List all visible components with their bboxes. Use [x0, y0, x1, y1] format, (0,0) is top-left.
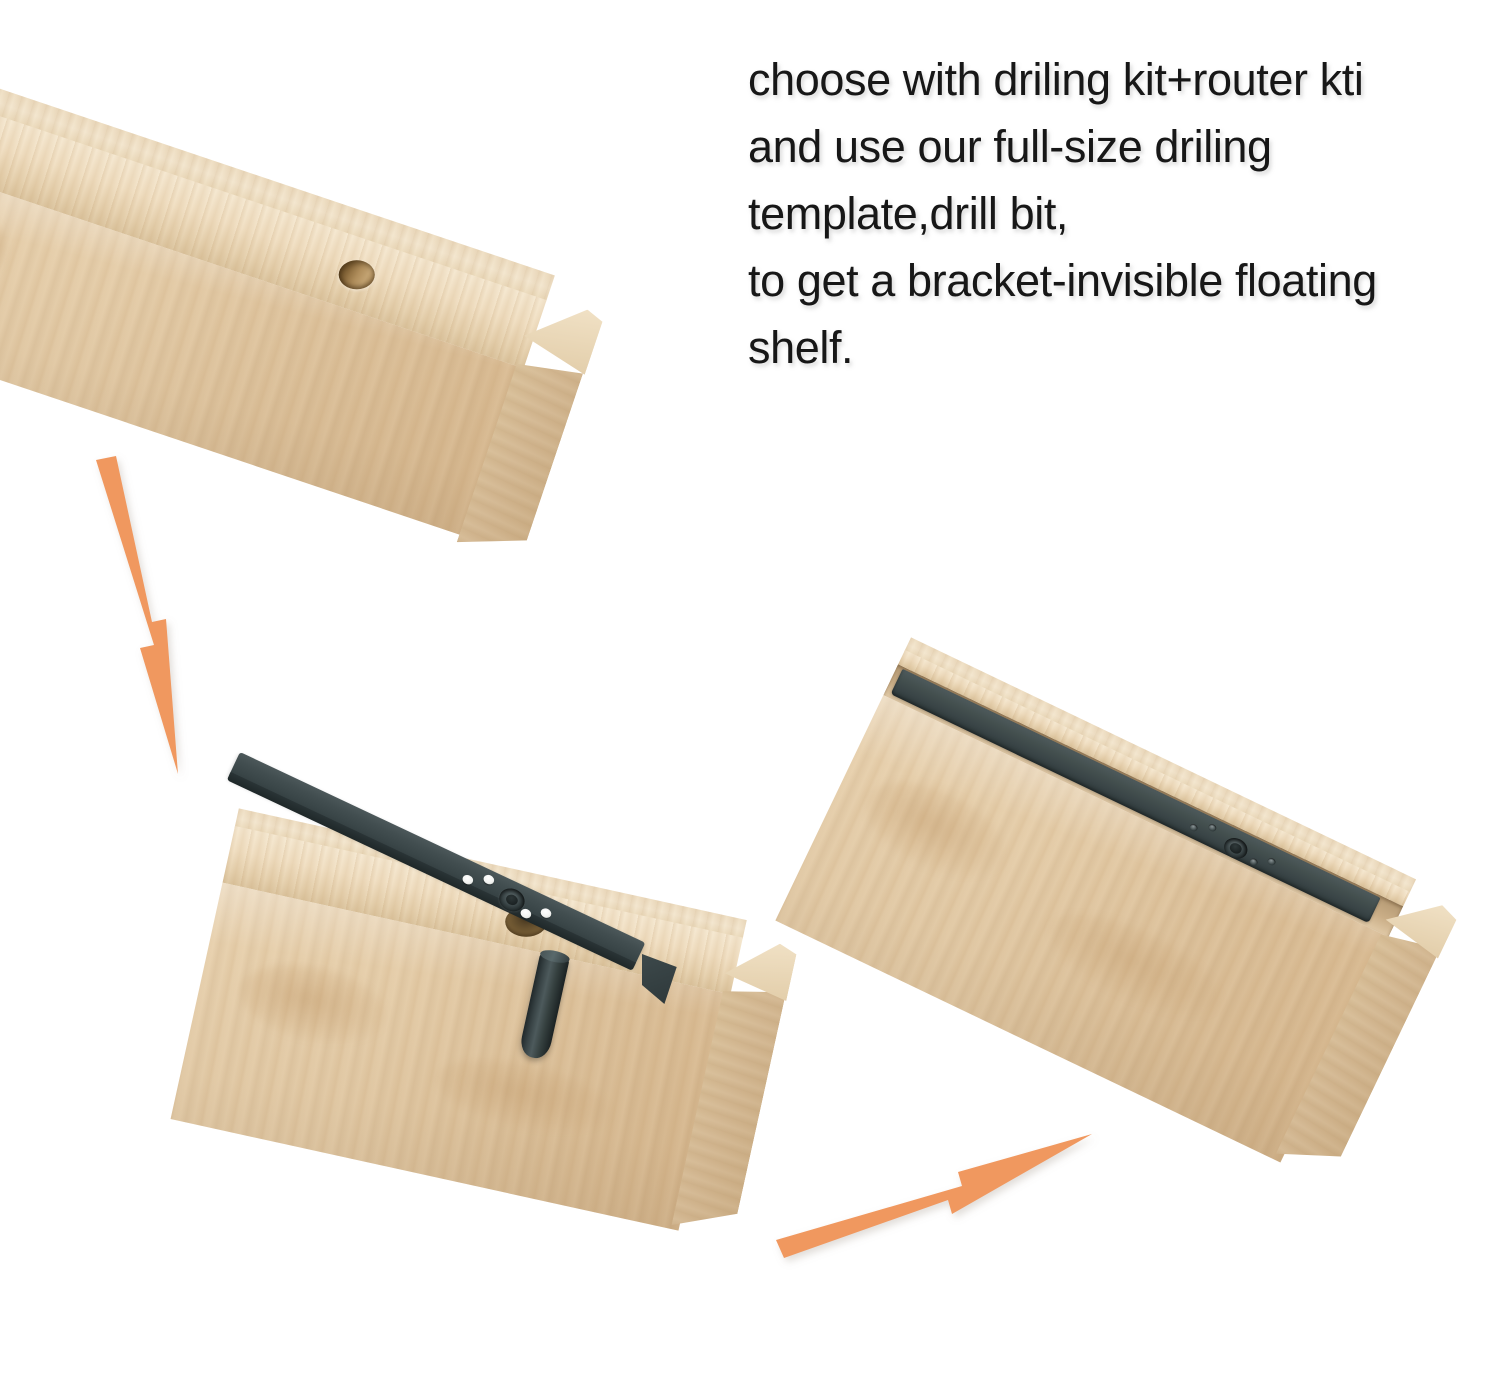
- board-shadow: [0, 0, 580, 60]
- instruction-text: choose with driling kit+router kti and u…: [748, 46, 1478, 381]
- arrow-down-right-icon: [78, 452, 208, 782]
- bracket-screw-hole: [1249, 857, 1259, 867]
- bracket-screw-hole: [1207, 823, 1217, 833]
- infographic-canvas: choose with driling kit+router kti and u…: [0, 0, 1500, 1391]
- socket-pin: [504, 892, 520, 907]
- wood-plank-assembled: [775, 650, 1410, 1163]
- arrow-up-right-icon: [772, 1108, 1122, 1278]
- bracket-screw-hole: [1188, 823, 1198, 833]
- board-shadow: [0, 60, 520, 116]
- arrow-step2-to-step3: [772, 1108, 1122, 1278]
- bracket-screw-hole: [1266, 857, 1276, 867]
- arrow-step1-to-step2: [78, 452, 208, 782]
- drilled-mounting-hole: [339, 260, 375, 289]
- socket-pin: [1228, 842, 1243, 856]
